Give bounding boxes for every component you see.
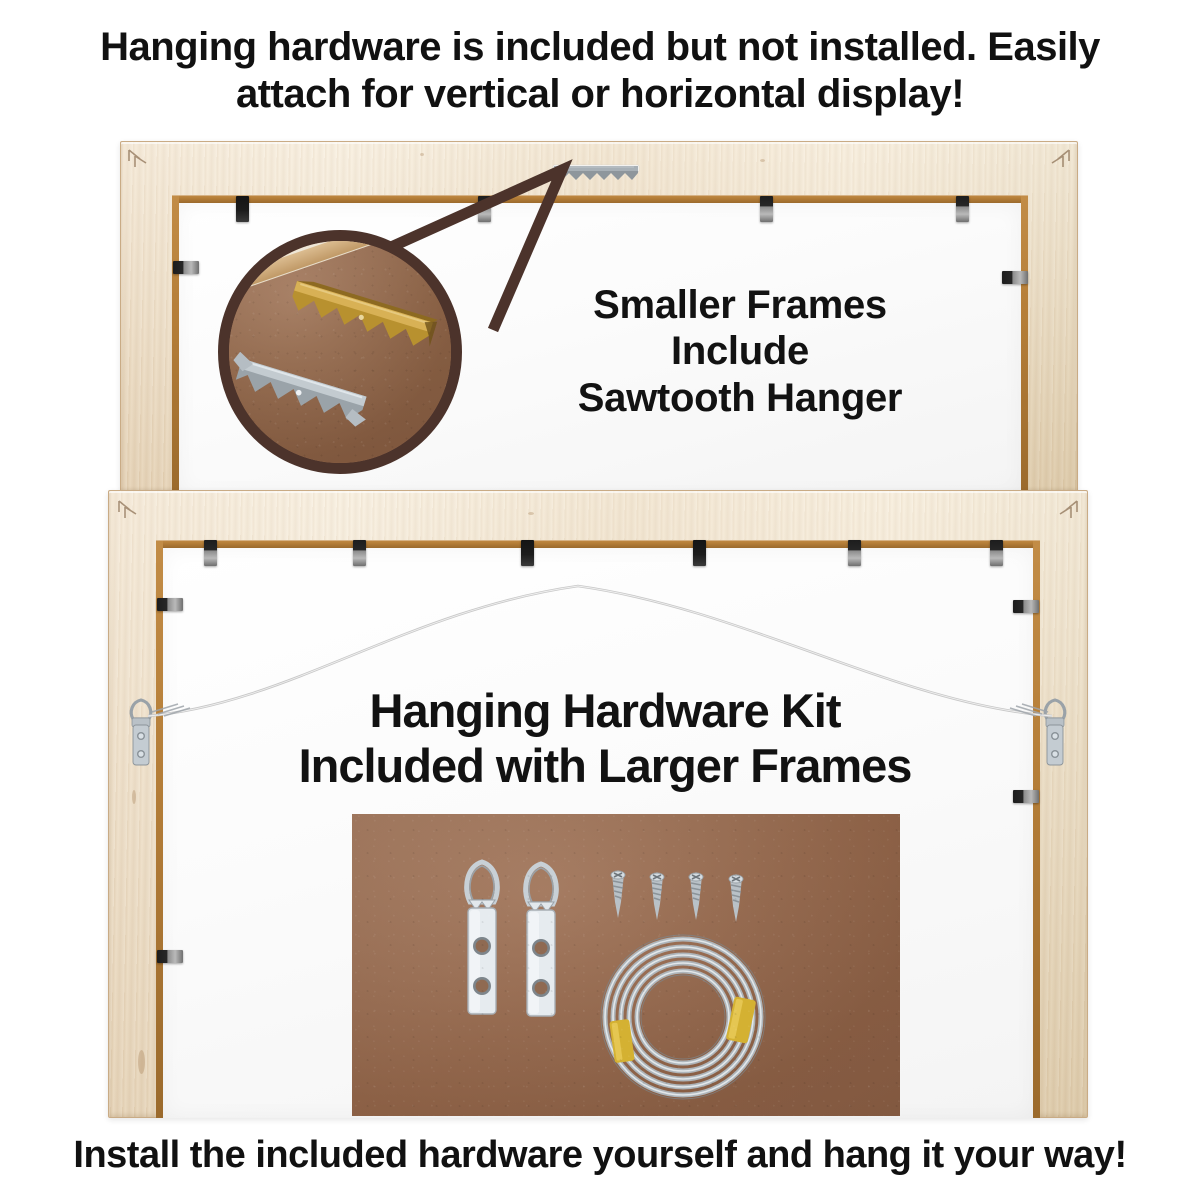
kit-d-ring-hanger	[456, 854, 508, 1024]
kit-mounting-screw	[723, 872, 749, 924]
kit-hanging-wire-coil	[590, 924, 776, 1110]
lower-overlay-line-2: Included with Larger Frames	[150, 739, 1060, 794]
kit-mounting-screw	[605, 868, 631, 920]
magnifier-lens	[218, 230, 462, 474]
footer-caption-text: Install the included hardware yourself a…	[0, 1133, 1200, 1178]
magnifier-callout	[196, 198, 496, 498]
lower-frame-back	[108, 490, 1088, 1118]
lower-frame-overlay-text: Hanging Hardware Kit Included with Large…	[150, 684, 1060, 793]
hardware-kit-photo	[352, 814, 900, 1116]
kit-mounting-screw	[683, 870, 709, 922]
kit-d-ring-hanger	[515, 856, 567, 1026]
infographic-canvas: Hanging hardware is included but not ins…	[0, 0, 1200, 1200]
kit-mounting-screw	[644, 870, 670, 922]
lower-overlay-line-1: Hanging Hardware Kit	[150, 684, 1060, 739]
